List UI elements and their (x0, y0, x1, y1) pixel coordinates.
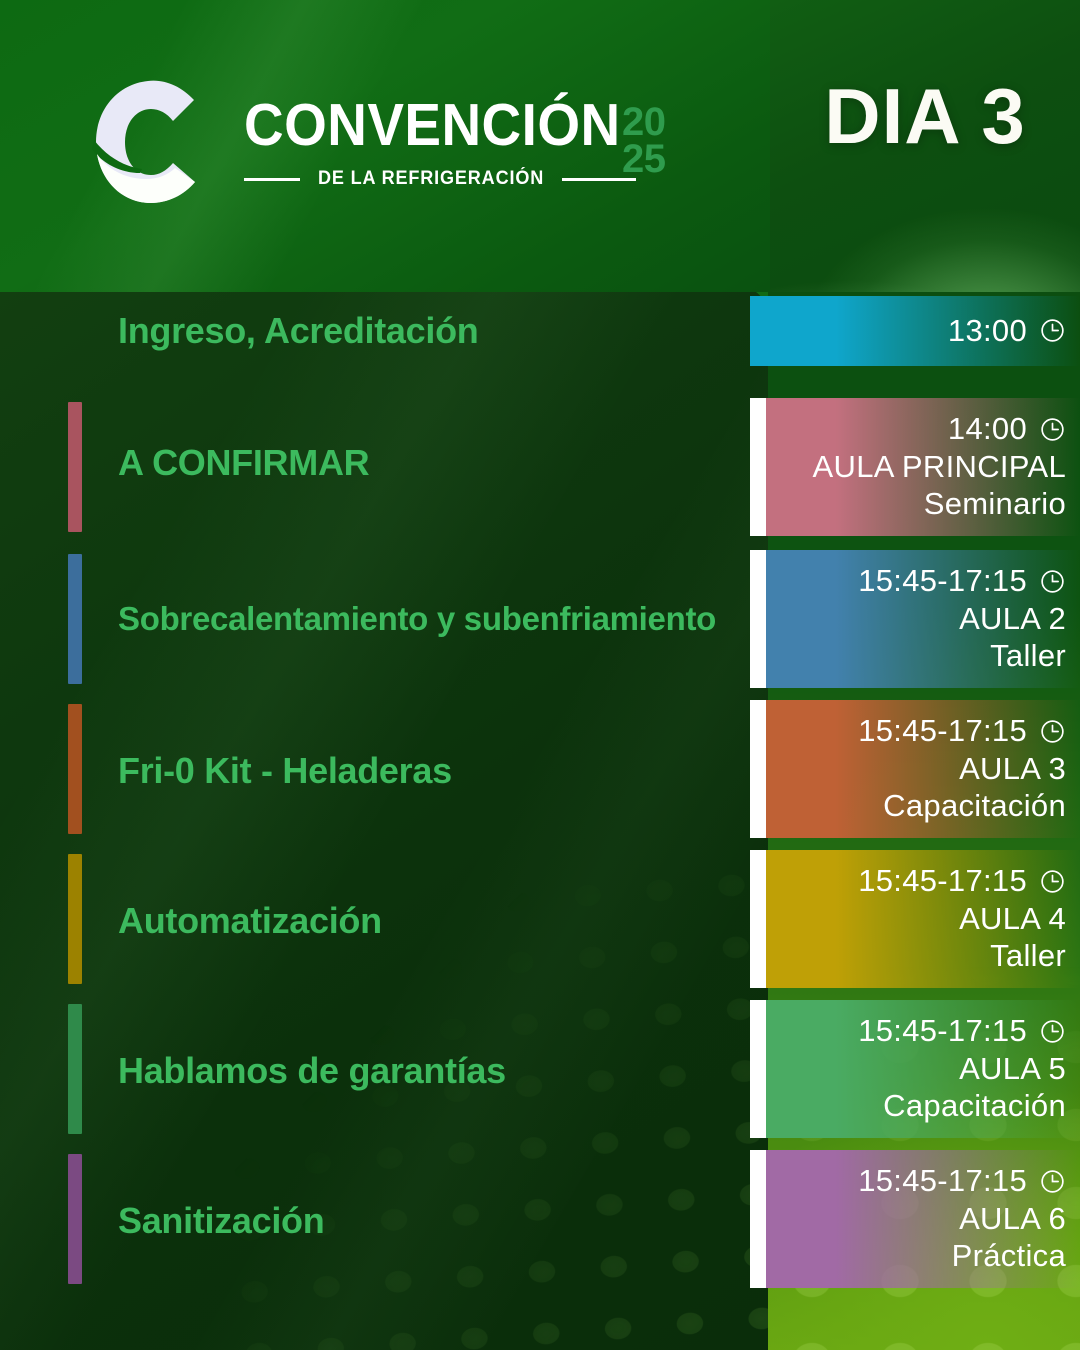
badge-time: 13:00 (948, 313, 1066, 350)
row-title: Automatización (118, 846, 718, 996)
row-title: Hablamos de garantías (118, 996, 718, 1146)
brand-sub: DE LA REFRIGERACIÓN (318, 168, 544, 190)
row-schedule-badge[interactable]: 15:45-17:15AULA 6Práctica (750, 1150, 1080, 1288)
row-accent-bar (68, 854, 82, 984)
badge-body: 15:45-17:15AULA 2Taller (750, 563, 1066, 675)
day-title: DIA 3 (770, 0, 1080, 292)
badge-body: 15:45-17:15AULA 6Práctica (750, 1163, 1066, 1275)
badge-room: AULA 2 (959, 601, 1066, 638)
convencion-c-logo-icon (82, 66, 222, 218)
schedule-row[interactable]: Hablamos de garantías15:45-17:15AULA 5Ca… (0, 996, 1080, 1146)
badge-room: AULA PRINCIPAL (813, 449, 1066, 486)
badge-time: 15:45-17:15 (858, 863, 1066, 900)
badge-body: 15:45-17:15AULA 4Taller (750, 863, 1066, 975)
clock-icon (1039, 317, 1066, 344)
badge-time-text: 13:00 (948, 313, 1027, 350)
badge-time-text: 15:45-17:15 (858, 1013, 1027, 1050)
badge-room: AULA 3 (959, 751, 1066, 788)
badge-kind: Taller (990, 938, 1066, 975)
schedule-row[interactable]: Automatización15:45-17:15AULA 4Taller (0, 846, 1080, 996)
badge-time-text: 15:45-17:15 (858, 713, 1027, 750)
brand-year: 20 25 (622, 104, 666, 178)
poster-canvas: CONVENCIÓN DE LA REFRIGERACIÓN 20 25 DIA… (0, 0, 1080, 1350)
clock-icon (1039, 416, 1066, 443)
badge-body: 14:00AULA PRINCIPALSeminario (750, 411, 1066, 523)
row-accent-bar (68, 1154, 82, 1284)
row-schedule-badge[interactable]: 13:00 (750, 296, 1080, 366)
brand-word: CONVENCIÓN (244, 96, 597, 155)
badge-time-text: 15:45-17:15 (858, 1163, 1027, 1200)
badge-kind: Capacitación (883, 788, 1066, 825)
badge-kind: Práctica (952, 1238, 1066, 1275)
row-title: Ingreso, Acreditación (118, 290, 718, 372)
badge-kind: Seminario (924, 486, 1066, 523)
brand-sub-row: DE LA REFRIGERACIÓN (244, 168, 636, 190)
row-title: Fri-0 Kit - Heladeras (118, 696, 718, 846)
badge-body: 15:45-17:15AULA 5Capacitación (750, 1013, 1066, 1125)
badge-time: 15:45-17:15 (858, 563, 1066, 600)
row-accent-bar (68, 1004, 82, 1134)
clock-icon (1039, 868, 1066, 895)
badge-time: 15:45-17:15 (858, 1013, 1066, 1050)
clock-icon (1039, 568, 1066, 595)
brand-rule-left (244, 178, 300, 181)
schedule-row[interactable]: Sobrecalentamiento y subenfriamiento15:4… (0, 544, 1080, 694)
schedule-row[interactable]: A CONFIRMAR14:00AULA PRINCIPALSeminario (0, 388, 1080, 538)
badge-time-text: 14:00 (948, 411, 1027, 448)
badge-kind: Taller (990, 638, 1066, 675)
row-schedule-badge[interactable]: 15:45-17:15AULA 4Taller (750, 850, 1080, 988)
badge-room: AULA 4 (959, 901, 1066, 938)
badge-kind: Capacitación (883, 1088, 1066, 1125)
badge-time: 15:45-17:15 (858, 1163, 1066, 1200)
clock-icon (1039, 1168, 1066, 1195)
badge-time-text: 15:45-17:15 (858, 863, 1027, 900)
row-accent-bar (68, 704, 82, 834)
badge-room: AULA 5 (959, 1051, 1066, 1088)
schedule-row[interactable]: Sanitización15:45-17:15AULA 6Práctica (0, 1146, 1080, 1296)
clock-icon (1039, 1018, 1066, 1045)
brand-year-bottom: 25 (622, 141, 666, 178)
row-accent-bar (68, 402, 82, 532)
row-schedule-badge[interactable]: 15:45-17:15AULA 3Capacitación (750, 700, 1080, 838)
badge-time: 15:45-17:15 (858, 713, 1066, 750)
clock-icon (1039, 718, 1066, 745)
row-title: Sanitización (118, 1146, 718, 1296)
badge-body: 15:45-17:15AULA 3Capacitación (750, 713, 1066, 825)
row-schedule-badge[interactable]: 15:45-17:15AULA 2Taller (750, 550, 1080, 688)
brand-wordmark: CONVENCIÓN DE LA REFRIGERACIÓN (244, 96, 624, 196)
schedule-rows: Ingreso, Acreditación13:00A CONFIRMAR14:… (0, 286, 1080, 1350)
row-title: A CONFIRMAR (118, 388, 718, 538)
badge-room: AULA 6 (959, 1201, 1066, 1238)
schedule-row[interactable]: Fri-0 Kit - Heladeras15:45-17:15AULA 3Ca… (0, 696, 1080, 846)
badge-body: 13:00 (750, 313, 1066, 350)
schedule-row[interactable]: Ingreso, Acreditación13:00 (0, 290, 1080, 372)
row-schedule-badge[interactable]: 15:45-17:15AULA 5Capacitación (750, 1000, 1080, 1138)
brand-year-top: 20 (622, 104, 666, 141)
row-schedule-badge[interactable]: 14:00AULA PRINCIPALSeminario (750, 398, 1080, 536)
row-title: Sobrecalentamiento y subenfriamiento (118, 544, 718, 694)
badge-time-text: 15:45-17:15 (858, 563, 1027, 600)
badge-time: 14:00 (948, 411, 1066, 448)
row-accent-bar (68, 554, 82, 684)
header: CONVENCIÓN DE LA REFRIGERACIÓN 20 25 DIA… (0, 0, 1080, 292)
